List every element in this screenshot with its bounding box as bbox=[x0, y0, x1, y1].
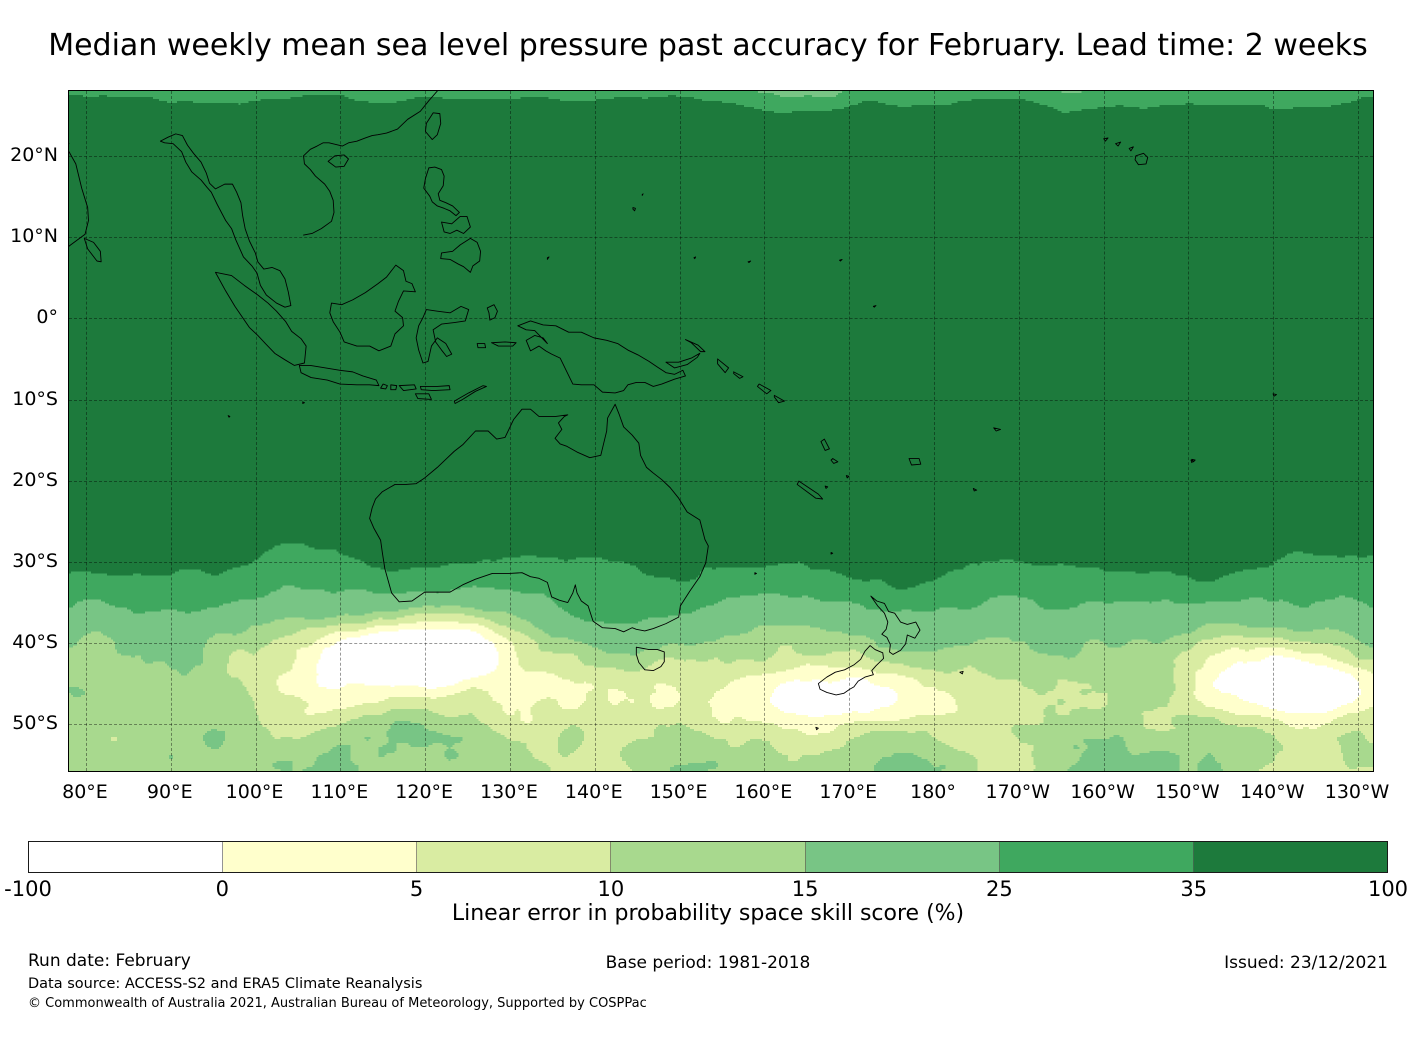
colorbar-tick-label: 35 bbox=[1180, 876, 1207, 902]
coastline-path bbox=[685, 340, 704, 352]
gridline-vertical bbox=[680, 91, 681, 771]
coastline-path bbox=[694, 257, 696, 259]
gridline-vertical bbox=[1273, 91, 1274, 771]
coastline-path bbox=[825, 486, 828, 488]
colorbar-axis-label: Linear error in probability space skill … bbox=[452, 900, 964, 928]
footer-base-period: Base period: 1981-2018 bbox=[606, 952, 811, 974]
coastline-path bbox=[840, 259, 843, 261]
gridline-horizontal bbox=[69, 156, 1373, 157]
coastline-path bbox=[994, 428, 1001, 431]
y-tick-label: 30°S bbox=[12, 549, 58, 573]
colorbar-tick-label: 15 bbox=[792, 876, 819, 902]
colorbar-segment bbox=[806, 842, 1000, 872]
x-tick-label: 160°W bbox=[1070, 780, 1135, 804]
gridline-horizontal bbox=[69, 562, 1373, 563]
coastline-path bbox=[734, 372, 743, 378]
gridline-vertical bbox=[256, 91, 257, 771]
coastline-path bbox=[441, 238, 481, 272]
map-plot-area bbox=[68, 90, 1374, 772]
coastline-path bbox=[1116, 142, 1121, 146]
coastline-path bbox=[477, 344, 485, 348]
gridline-vertical bbox=[1188, 91, 1189, 771]
coastline-path bbox=[454, 386, 486, 404]
gridline-horizontal bbox=[69, 481, 1373, 482]
x-tick-label: 180° bbox=[910, 780, 956, 804]
x-tick-label: 80°E bbox=[62, 780, 108, 804]
colorbar-tick-label: 100 bbox=[1368, 876, 1408, 902]
coastline-path bbox=[755, 573, 757, 575]
coastline-path bbox=[666, 353, 700, 368]
gridline-vertical bbox=[425, 91, 426, 771]
coastline-path bbox=[909, 459, 921, 465]
gridline-vertical bbox=[1019, 91, 1020, 771]
colorbar-tick-label: 10 bbox=[597, 876, 624, 902]
gridline-vertical bbox=[1104, 91, 1105, 771]
colorbar-segment bbox=[29, 842, 223, 872]
x-tick-label: 110°E bbox=[310, 780, 368, 804]
colorbar-segment bbox=[417, 842, 611, 872]
coastline-path bbox=[299, 365, 379, 385]
gridline-vertical bbox=[849, 91, 850, 771]
gridline-horizontal bbox=[69, 400, 1373, 401]
coastline-path bbox=[797, 481, 822, 499]
colorbar-segment bbox=[1194, 842, 1387, 872]
y-tick-label: 10°S bbox=[12, 387, 58, 411]
coastline-path bbox=[831, 459, 838, 464]
coastline-path bbox=[816, 727, 818, 729]
y-tick-label: 20°S bbox=[12, 468, 58, 492]
x-tick-label: 170°W bbox=[986, 780, 1051, 804]
x-tick-label: 140°W bbox=[1240, 780, 1305, 804]
coastline-path bbox=[399, 385, 416, 391]
y-tick-label: 10°N bbox=[10, 224, 58, 248]
coastline-path bbox=[960, 671, 963, 673]
colorbar-segment bbox=[1000, 842, 1194, 872]
coastline-path bbox=[391, 385, 397, 390]
page-title: Median weekly mean sea level pressure pa… bbox=[48, 26, 1368, 66]
coastline-path bbox=[973, 488, 976, 490]
coastline-path bbox=[821, 439, 829, 450]
x-tick-label: 120°E bbox=[395, 780, 453, 804]
gridline-vertical bbox=[86, 91, 87, 771]
footer-issued: Issued: 23/12/2021 bbox=[1224, 952, 1388, 974]
coastline-path bbox=[718, 359, 729, 373]
gridline-vertical bbox=[510, 91, 511, 771]
y-tick-label: 40°S bbox=[12, 630, 58, 654]
colorbar-tick-label: 5 bbox=[410, 876, 423, 902]
coastline-path bbox=[442, 216, 471, 233]
colorbar-segment bbox=[611, 842, 805, 872]
y-tick-label: 20°N bbox=[10, 143, 58, 167]
coastline-path bbox=[633, 208, 635, 211]
coastline-path bbox=[1129, 147, 1133, 151]
gridline-vertical bbox=[1358, 91, 1359, 771]
colorbar-tick-label: -100 bbox=[4, 876, 52, 902]
gridline-vertical bbox=[934, 91, 935, 771]
coastline-path bbox=[381, 384, 388, 389]
x-tick-label: 100°E bbox=[226, 780, 284, 804]
coastline-path bbox=[425, 113, 440, 140]
coastline-path bbox=[873, 306, 876, 308]
footer-run-date: Run date: February bbox=[28, 950, 191, 972]
coastline-path bbox=[492, 342, 517, 346]
coastline-path bbox=[303, 402, 305, 404]
coastline-path bbox=[818, 646, 883, 695]
footer-data-source: Data source: ACCESS-S2 and ERA5 Climate … bbox=[28, 975, 422, 994]
colorbar-tick-label: 25 bbox=[986, 876, 1013, 902]
y-tick-label: 0° bbox=[36, 305, 58, 329]
x-tick-label: 150°W bbox=[1155, 780, 1220, 804]
gridline-horizontal bbox=[69, 724, 1373, 725]
x-tick-label: 90°E bbox=[147, 780, 193, 804]
coastline-path bbox=[831, 552, 833, 554]
gridline-vertical bbox=[171, 91, 172, 771]
coastline-path bbox=[416, 306, 469, 363]
gridline-vertical bbox=[595, 91, 596, 771]
colorbar-segment bbox=[223, 842, 417, 872]
coastline-path bbox=[160, 134, 290, 307]
coastline-path bbox=[547, 257, 549, 259]
coastline-path bbox=[330, 265, 416, 351]
coastline-path bbox=[748, 261, 751, 263]
y-tick-label: 50°S bbox=[12, 711, 58, 735]
x-tick-label: 150°E bbox=[650, 780, 708, 804]
gridline-horizontal bbox=[69, 318, 1373, 319]
coastline-path bbox=[228, 416, 230, 418]
coastline-overlay bbox=[69, 91, 1373, 771]
x-tick-label: 170°E bbox=[819, 780, 877, 804]
coastline-path bbox=[370, 404, 709, 632]
coastline-path bbox=[636, 647, 664, 670]
coastline-path bbox=[518, 321, 686, 393]
coastline-path bbox=[642, 194, 643, 196]
x-tick-label: 140°E bbox=[565, 780, 623, 804]
colorbar-tick-label: 0 bbox=[216, 876, 229, 902]
coastline-path bbox=[424, 167, 460, 216]
footer-copyright: © Commonwealth of Australia 2021, Austra… bbox=[28, 995, 647, 1012]
x-tick-label: 130°W bbox=[1325, 780, 1390, 804]
gridline-horizontal bbox=[69, 643, 1373, 644]
gridline-vertical bbox=[340, 91, 341, 771]
x-tick-label: 130°E bbox=[480, 780, 538, 804]
coastline-path bbox=[304, 91, 505, 235]
gridline-vertical bbox=[764, 91, 765, 771]
colorbar bbox=[28, 841, 1388, 873]
gridline-horizontal bbox=[69, 237, 1373, 238]
coastline-path bbox=[871, 596, 920, 654]
x-tick-label: 160°E bbox=[735, 780, 793, 804]
